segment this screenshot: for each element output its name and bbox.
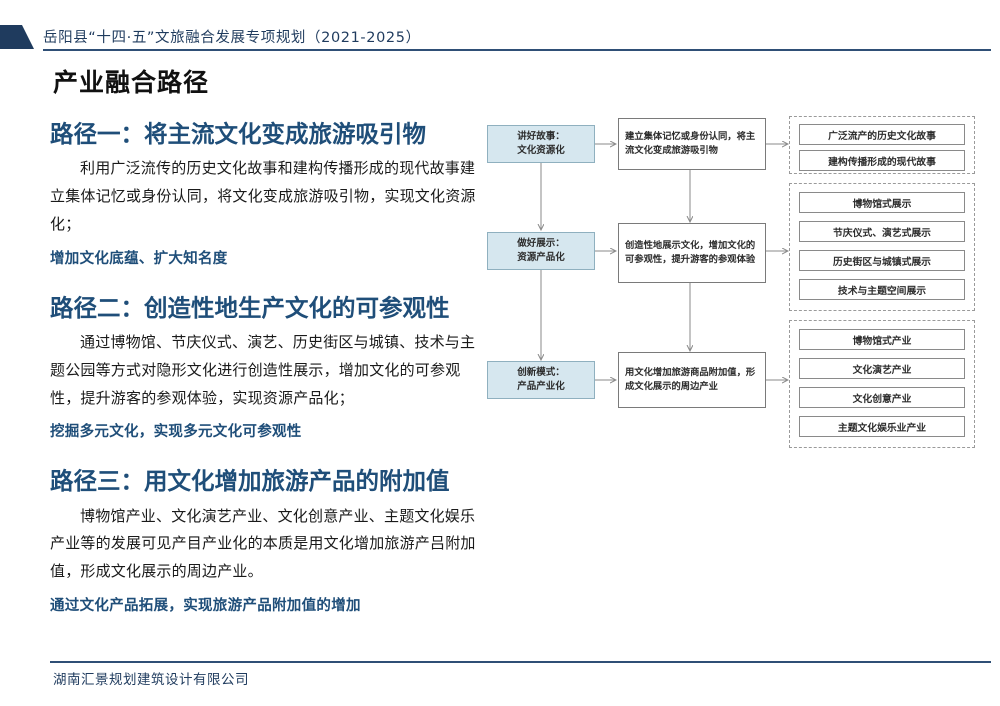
page-header: 岳阳县“十四·五”文旅融合发展专项规划（2021-2025） bbox=[0, 0, 1000, 52]
group-2-item-2: 节庆仪式、演艺式展示 bbox=[799, 221, 965, 242]
group-2-item-1: 博物馆式展示 bbox=[799, 192, 965, 213]
stage-2-line2: 资源产品化 bbox=[517, 251, 565, 265]
page-title: 产业融合路径 bbox=[53, 63, 209, 99]
stage-box-1: 讲好故事： 文化资源化 bbox=[487, 125, 595, 163]
middle-box-1: 建立集体记忆或身份认同，将主流文化变成旅游吸引物 bbox=[618, 118, 766, 170]
paths-text-column: 路径一：将主流文化变成旅游吸引物 利用广泛流传的历史文化故事和建构传播形成的现代… bbox=[50, 120, 480, 637]
group-2-item-3: 历史街区与城镇式展示 bbox=[799, 250, 965, 271]
header-title: 岳阳县“十四·五”文旅融合发展专项规划（2021-2025） bbox=[43, 26, 421, 47]
footer-divider bbox=[50, 661, 991, 663]
group-1-item-1: 广泛流产的历史文化故事 bbox=[799, 124, 965, 145]
path-three-highlight: 通过文化产品拓展，实现旅游产品附加值的增加 bbox=[50, 594, 480, 615]
stage-3-line1: 创新模式： bbox=[517, 366, 565, 380]
path-three-body: 博物馆产业、文化演艺产业、文化创意产业、主题文化娱乐产业等的发展可见产目产业化的… bbox=[50, 503, 480, 586]
group-2-item-4: 技术与主题空间展示 bbox=[799, 279, 965, 300]
path-three-heading: 路径三：用文化增加旅游产品的附加值 bbox=[50, 467, 480, 496]
path-two-body: 通过博物馆、节庆仪式、演艺、历史街区与城镇、技术与主题公园等方式对隐形文化进行创… bbox=[50, 329, 480, 412]
trapezoid-logo-icon bbox=[0, 25, 34, 49]
stage-3-line2: 产品产业化 bbox=[517, 380, 565, 394]
footer-company-name: 湖南汇景规划建筑设计有限公司 bbox=[53, 668, 249, 688]
path-one-body: 利用广泛流传的历史文化故事和建构传播形成的现代故事建立集体记忆或身份认同，将文化… bbox=[50, 155, 480, 238]
middle-box-2: 创造性地展示文化，增加文化的可参观性，提升游客的参观体验 bbox=[618, 223, 766, 283]
path-one-heading: 路径一：将主流文化变成旅游吸引物 bbox=[50, 120, 480, 149]
path-two-highlight: 挖掘多元文化，实现多元文化可参观性 bbox=[50, 420, 480, 441]
stage-box-2: 做好展示： 资源产品化 bbox=[487, 232, 595, 270]
path-one-highlight: 增加文化底蕴、扩大知名度 bbox=[50, 247, 480, 268]
group-3-item-3: 文化创意产业 bbox=[799, 387, 965, 408]
group-3-item-1: 博物馆式产业 bbox=[799, 329, 965, 350]
middle-box-3: 用文化增加旅游商品附加值，形成文化展示的周边产业 bbox=[618, 352, 766, 408]
stage-1-line2: 文化资源化 bbox=[517, 144, 565, 158]
path-block-two: 路径二：创造性地生产文化的可参观性 通过博物馆、节庆仪式、演艺、历史街区与城镇、… bbox=[50, 294, 480, 442]
industry-integration-flow-diagram: 讲好故事： 文化资源化 做好展示： 资源产品化 创新模式： 产品产业化 建立集体… bbox=[482, 105, 982, 445]
header-divider bbox=[43, 49, 991, 51]
group-3-item-4: 主题文化娱乐业产业 bbox=[799, 416, 965, 437]
group-1-item-2: 建构传播形成的现代故事 bbox=[799, 150, 965, 171]
stage-box-3: 创新模式： 产品产业化 bbox=[487, 361, 595, 399]
group-3-item-2: 文化演艺产业 bbox=[799, 358, 965, 379]
path-two-heading: 路径二：创造性地生产文化的可参观性 bbox=[50, 294, 480, 323]
stage-2-line1: 做好展示： bbox=[517, 237, 565, 251]
path-block-three: 路径三：用文化增加旅游产品的附加值 博物馆产业、文化演艺产业、文化创意产业、主题… bbox=[50, 467, 480, 615]
stage-1-line1: 讲好故事： bbox=[517, 130, 565, 144]
path-block-one: 路径一：将主流文化变成旅游吸引物 利用广泛流传的历史文化故事和建构传播形成的现代… bbox=[50, 120, 480, 268]
